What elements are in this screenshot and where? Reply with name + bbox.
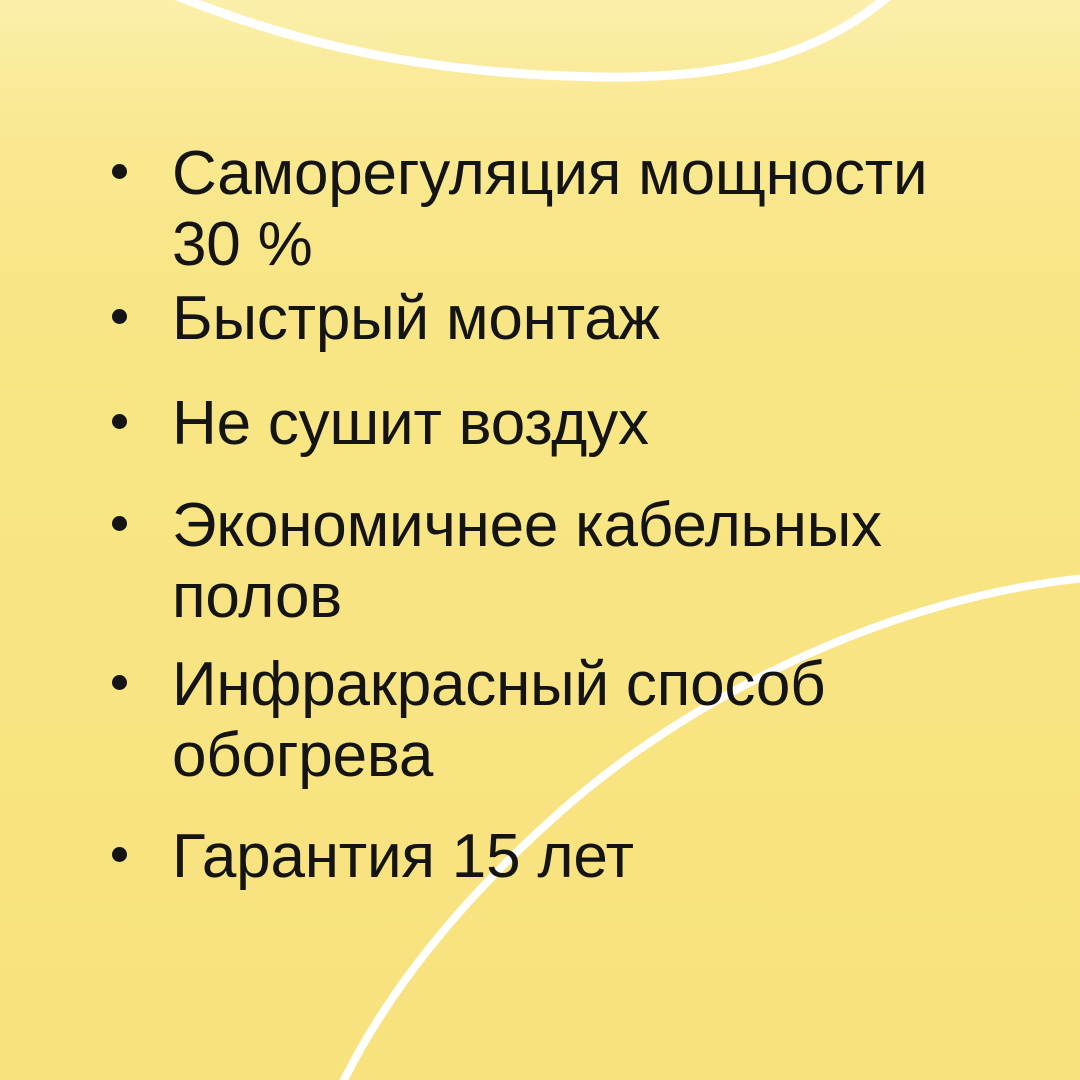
promo-slide: Саморегуляция мощности 30 % Быстрый монт…: [0, 0, 1080, 1080]
bullet-dot-icon: [112, 414, 127, 429]
list-item: Экономичнее кабельных полов: [112, 490, 1032, 632]
bullet-dot-icon: [112, 516, 127, 531]
top-white-arc: [172, 0, 893, 77]
list-item: Не сушит воздух: [112, 388, 1032, 459]
list-item-label: Экономичнее кабельных полов: [172, 490, 1032, 632]
list-item: Быстрый монтаж: [112, 283, 1032, 354]
bullet-dot-icon: [112, 675, 127, 690]
list-item-label: Быстрый монтаж: [172, 283, 1032, 354]
bullet-dot-icon: [112, 309, 127, 324]
list-item: Саморегуляция мощности 30 %: [112, 138, 1032, 280]
bullet-dot-icon: [112, 164, 127, 179]
list-item: Гарантия 15 лет: [112, 821, 1032, 892]
list-item-label: Саморегуляция мощности 30 %: [172, 138, 1032, 280]
bullet-dot-icon: [112, 847, 127, 862]
list-item-label: Гарантия 15 лет: [172, 821, 1032, 892]
list-item-label: Инфракрасный способ обогрева: [172, 649, 1032, 791]
list-item-label: Не сушит воздух: [172, 388, 1032, 459]
list-item: Инфракрасный способ обогрева: [112, 649, 1032, 791]
